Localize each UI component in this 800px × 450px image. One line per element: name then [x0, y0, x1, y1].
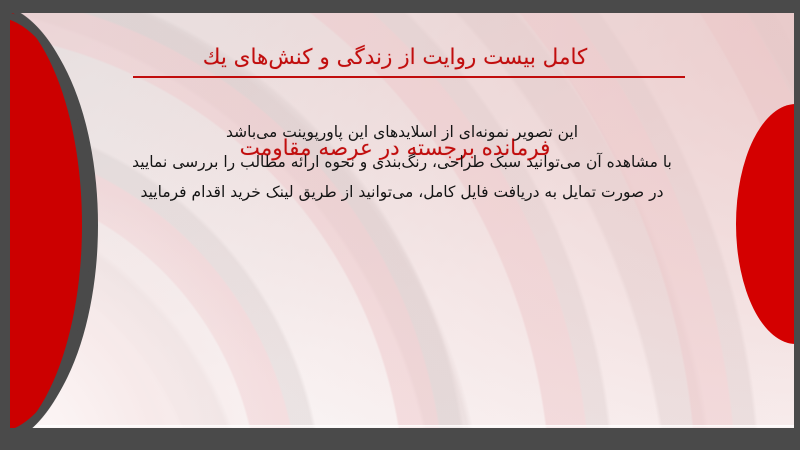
- slide-body-text: این تصویر نمونه‌ای از اسلایدهای این پاور…: [32, 118, 772, 207]
- slide-title-line-1: کامل بیست روایت از زندگی و کنش‌های یك: [203, 45, 588, 70]
- slide-frame-bottom-bar: [0, 428, 800, 450]
- slide-frame-right-bar: [794, 0, 800, 450]
- slide-frame-left-bar: [0, 0, 10, 450]
- body-line-1: این تصویر نمونه‌ای از اسلایدهای این پاور…: [32, 118, 772, 148]
- body-line-2: با مشاهده آن می‌توانید سبک طراحی، رنگ‌بن…: [32, 148, 772, 178]
- body-line-3: در صورت تمایل به دریافت فایل کامل، می‌تو…: [32, 178, 772, 208]
- presentation-slide: کامل بیست روایت از زندگی و کنش‌های یك فر…: [0, 0, 800, 450]
- title-underline-rule: [133, 76, 685, 78]
